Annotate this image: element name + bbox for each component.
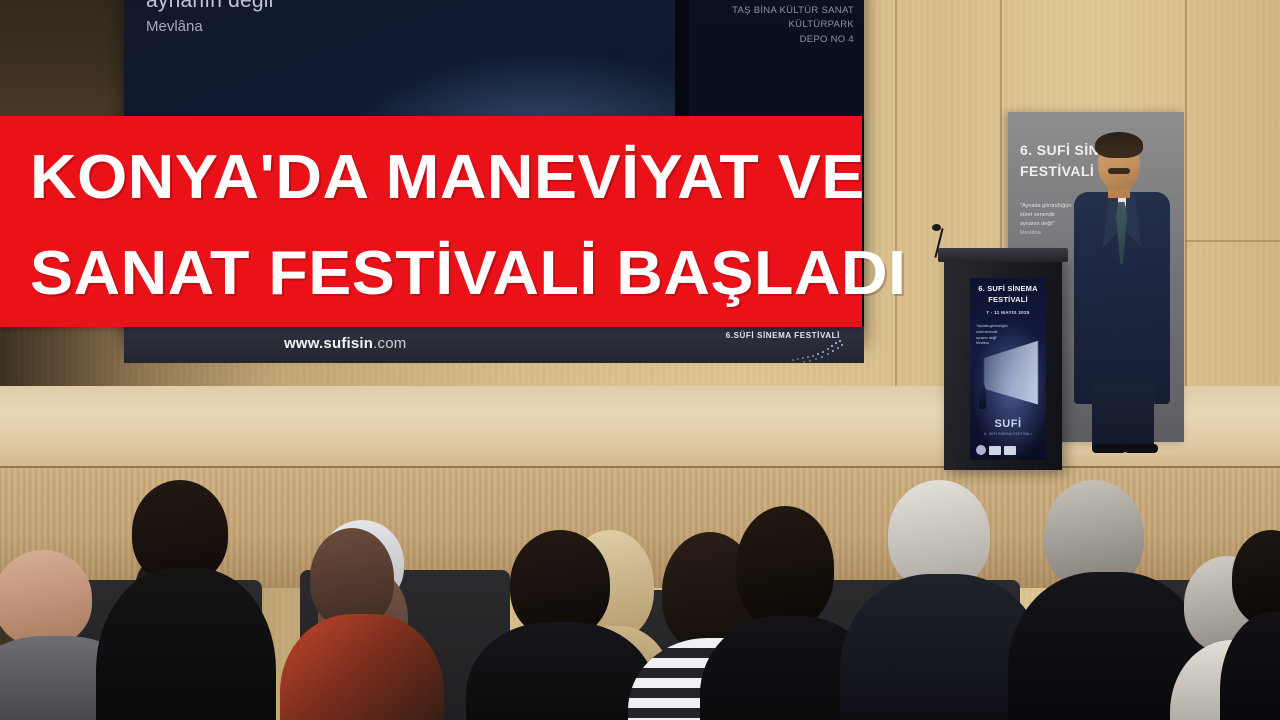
news-photo-scene: aynanın değil" Mevlâna 7 - 11 MAYIS 2025…: [0, 0, 1280, 720]
audience-person: [854, 470, 1024, 720]
headline-banner: KONYA'DA MANEVİYAT VE SANAT FESTİVALİ BA…: [0, 116, 862, 327]
audience-person: [1226, 500, 1280, 720]
headline-line-1: KONYA'DA MANEVİYAT VE: [30, 130, 895, 226]
podium-top-surface: [938, 248, 1068, 262]
podium-quote-attr: Mevlâna: [976, 341, 1016, 347]
podium-banner-quote: "Aynada göründüğün sûret senendir aynanı…: [976, 324, 1016, 347]
screen-venue-line: TAŞ BİNA KÜLTÜR SANAT: [695, 4, 854, 19]
shoulders-patterned: [280, 614, 444, 720]
podium-banner-beam: [984, 336, 1039, 409]
screen-quote-text: aynanın değil": [146, 0, 281, 16]
headline-line-2: SANAT FESTİVALİ BAŞLADI: [30, 226, 895, 322]
speaker-mustache: [1108, 168, 1130, 174]
wall-seam: [1185, 240, 1280, 242]
website-tld: .com: [373, 335, 406, 352]
website-name: www.sufisin: [284, 335, 373, 352]
audience-person: [1020, 480, 1190, 720]
shoulders: [96, 568, 276, 720]
podium-banner-title: 6. SUFİ SİNEMA FESTİVALİ: [970, 284, 1046, 306]
audience: [0, 400, 1280, 720]
screen-website-url: www.sufisin.com: [284, 335, 406, 352]
screen-quote-author: Mevlâna: [146, 16, 281, 38]
podium-banner-date: 7 - 11 MAYIS 2025: [970, 310, 1046, 315]
screen-quote-block: aynanın değil" Mevlâna: [146, 0, 281, 38]
speaker-hair: [1095, 132, 1143, 158]
audience-person: [470, 470, 645, 720]
microphone-icon: [932, 224, 941, 231]
podium-title-line2: FESTİVALİ: [970, 295, 1046, 306]
festival-swirl-logo-icon: [788, 339, 846, 363]
podium-title-line1: 6. SUFİ SİNEMA: [970, 284, 1046, 295]
screen-venue-line: KÜLTÜRPARK: [695, 18, 854, 33]
screen-footer-strip: www.sufisin.com 6.SÜFİ SİNEMA FESTİVALİ: [124, 327, 864, 363]
head-bald: [0, 550, 92, 646]
shoulders: [1220, 612, 1280, 720]
shadowed-wall-left: [0, 0, 135, 120]
head: [736, 506, 834, 628]
screen-venue-line: DEPO NO 4: [695, 33, 854, 48]
head-hijab: [310, 528, 394, 628]
audience-person: [286, 510, 436, 720]
audience-person: [100, 480, 270, 720]
